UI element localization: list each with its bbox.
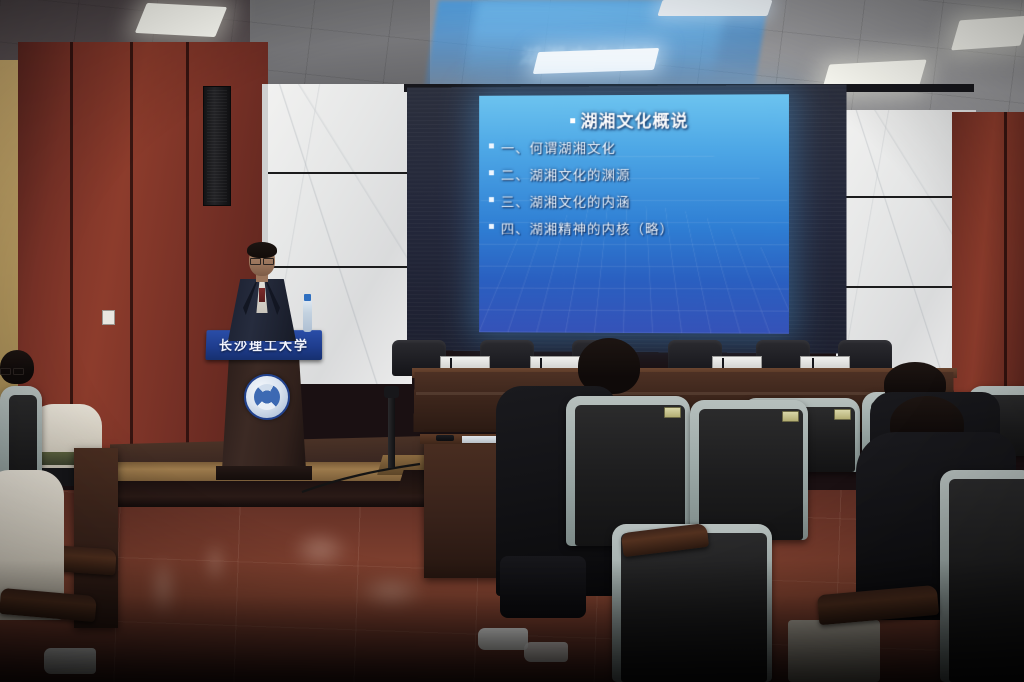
bullet-square-icon	[570, 118, 575, 123]
seat-number-plate	[834, 409, 851, 420]
slide-bullet-item: 三、湖湘文化的内涵	[489, 191, 779, 211]
marble-joint	[262, 172, 412, 174]
panel-seam	[1004, 112, 1007, 392]
auditorium-seat[interactable]	[690, 400, 808, 540]
slide-bullet-item: 二、湖湘文化的渊源	[489, 164, 779, 185]
bullet-square-icon	[489, 224, 494, 229]
glasses-icon	[0, 368, 24, 373]
bullet-square-icon	[489, 197, 494, 202]
floor-mic-head	[384, 386, 399, 398]
floor-cable	[300, 452, 440, 498]
desk-phone	[436, 435, 454, 441]
projection-screen: 湖湘文化概说 一、何谓湖湘文化 二、湖湘文化的渊源 三、湖湘文化的内涵 四、湖湘…	[479, 94, 789, 334]
bullet-square-icon	[489, 170, 494, 175]
speaker-tie	[259, 288, 265, 302]
foreground-shadow	[0, 560, 1024, 682]
water-bottle	[303, 300, 312, 332]
wood-paneling-right	[952, 112, 1024, 392]
marble-joint	[262, 266, 412, 268]
panel-seam	[130, 42, 133, 472]
ceiling-light-panel	[951, 16, 1024, 51]
lectern-base	[216, 466, 312, 480]
slide-bullet-list: 一、何谓湖湘文化 二、湖湘文化的渊源 三、湖湘文化的内涵 四、湖湘精神的内核（略…	[489, 137, 779, 246]
speaker-hair	[247, 242, 277, 258]
audience-person-hair	[0, 350, 34, 384]
panel-seam	[186, 42, 189, 472]
wall-speaker-left	[203, 86, 231, 206]
floor-mic-stand	[388, 392, 395, 468]
slide-title: 湖湘文化概说	[479, 106, 781, 132]
slide-bullet-item: 四、湖湘精神的内核（略）	[489, 218, 779, 238]
ceiling-light-panel	[657, 0, 772, 16]
ceiling-light-panel	[135, 3, 227, 37]
seat-number-plate	[664, 407, 681, 418]
seat-number-plate	[782, 411, 799, 422]
glasses-icon	[250, 258, 274, 263]
ceiling-light-panel	[533, 48, 660, 74]
bullet-square-icon	[489, 143, 494, 148]
water-bottle-cap	[304, 294, 311, 301]
university-emblem	[244, 374, 290, 420]
wall-outlet-plate	[102, 310, 115, 325]
slide-bullet-item: 一、何谓湖湘文化	[489, 137, 779, 158]
lecture-hall-photo: 湖湘文化概说 湖湘文化概说	[0, 0, 1024, 682]
